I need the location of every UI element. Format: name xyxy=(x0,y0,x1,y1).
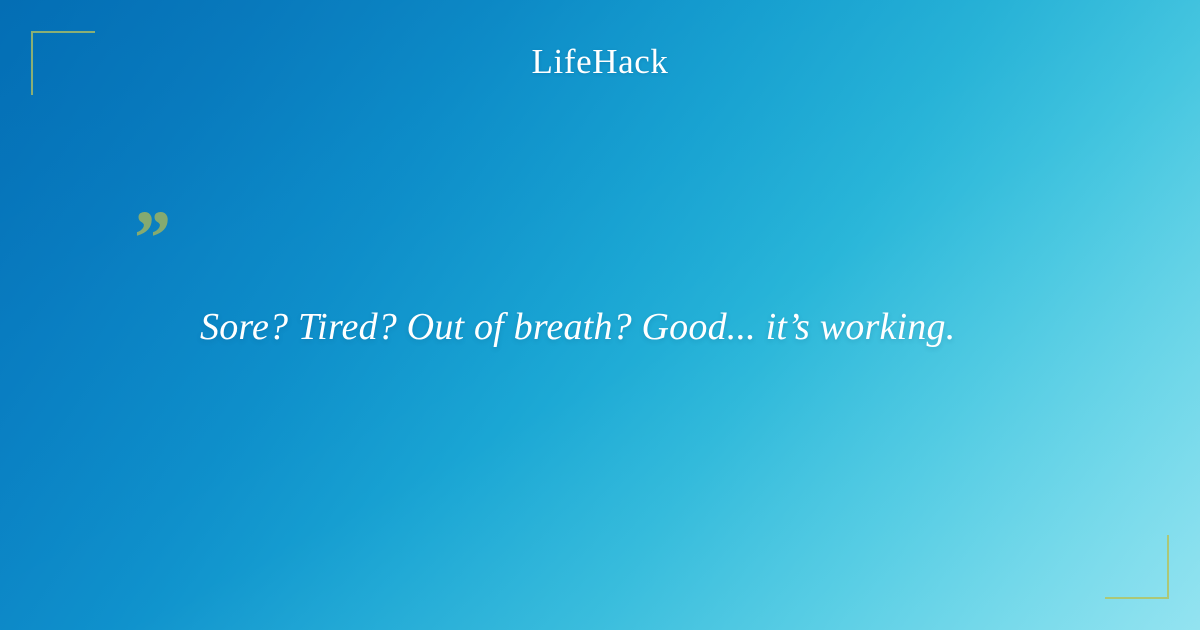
corner-bracket-bottom-right-icon xyxy=(1105,535,1169,599)
brand-logo: LifeHack xyxy=(0,40,1200,84)
quotation-mark-icon: ” xyxy=(130,218,1080,264)
quote-text: Sore? Tired? Out of breath? Good... it’s… xyxy=(200,302,1080,352)
brand-logo-text: LifeHack xyxy=(532,40,669,84)
quote-block: ” Sore? Tired? Out of breath? Good... it… xyxy=(130,218,1080,352)
quote-card: LifeHack ” Sore? Tired? Out of breath? G… xyxy=(0,0,1200,630)
